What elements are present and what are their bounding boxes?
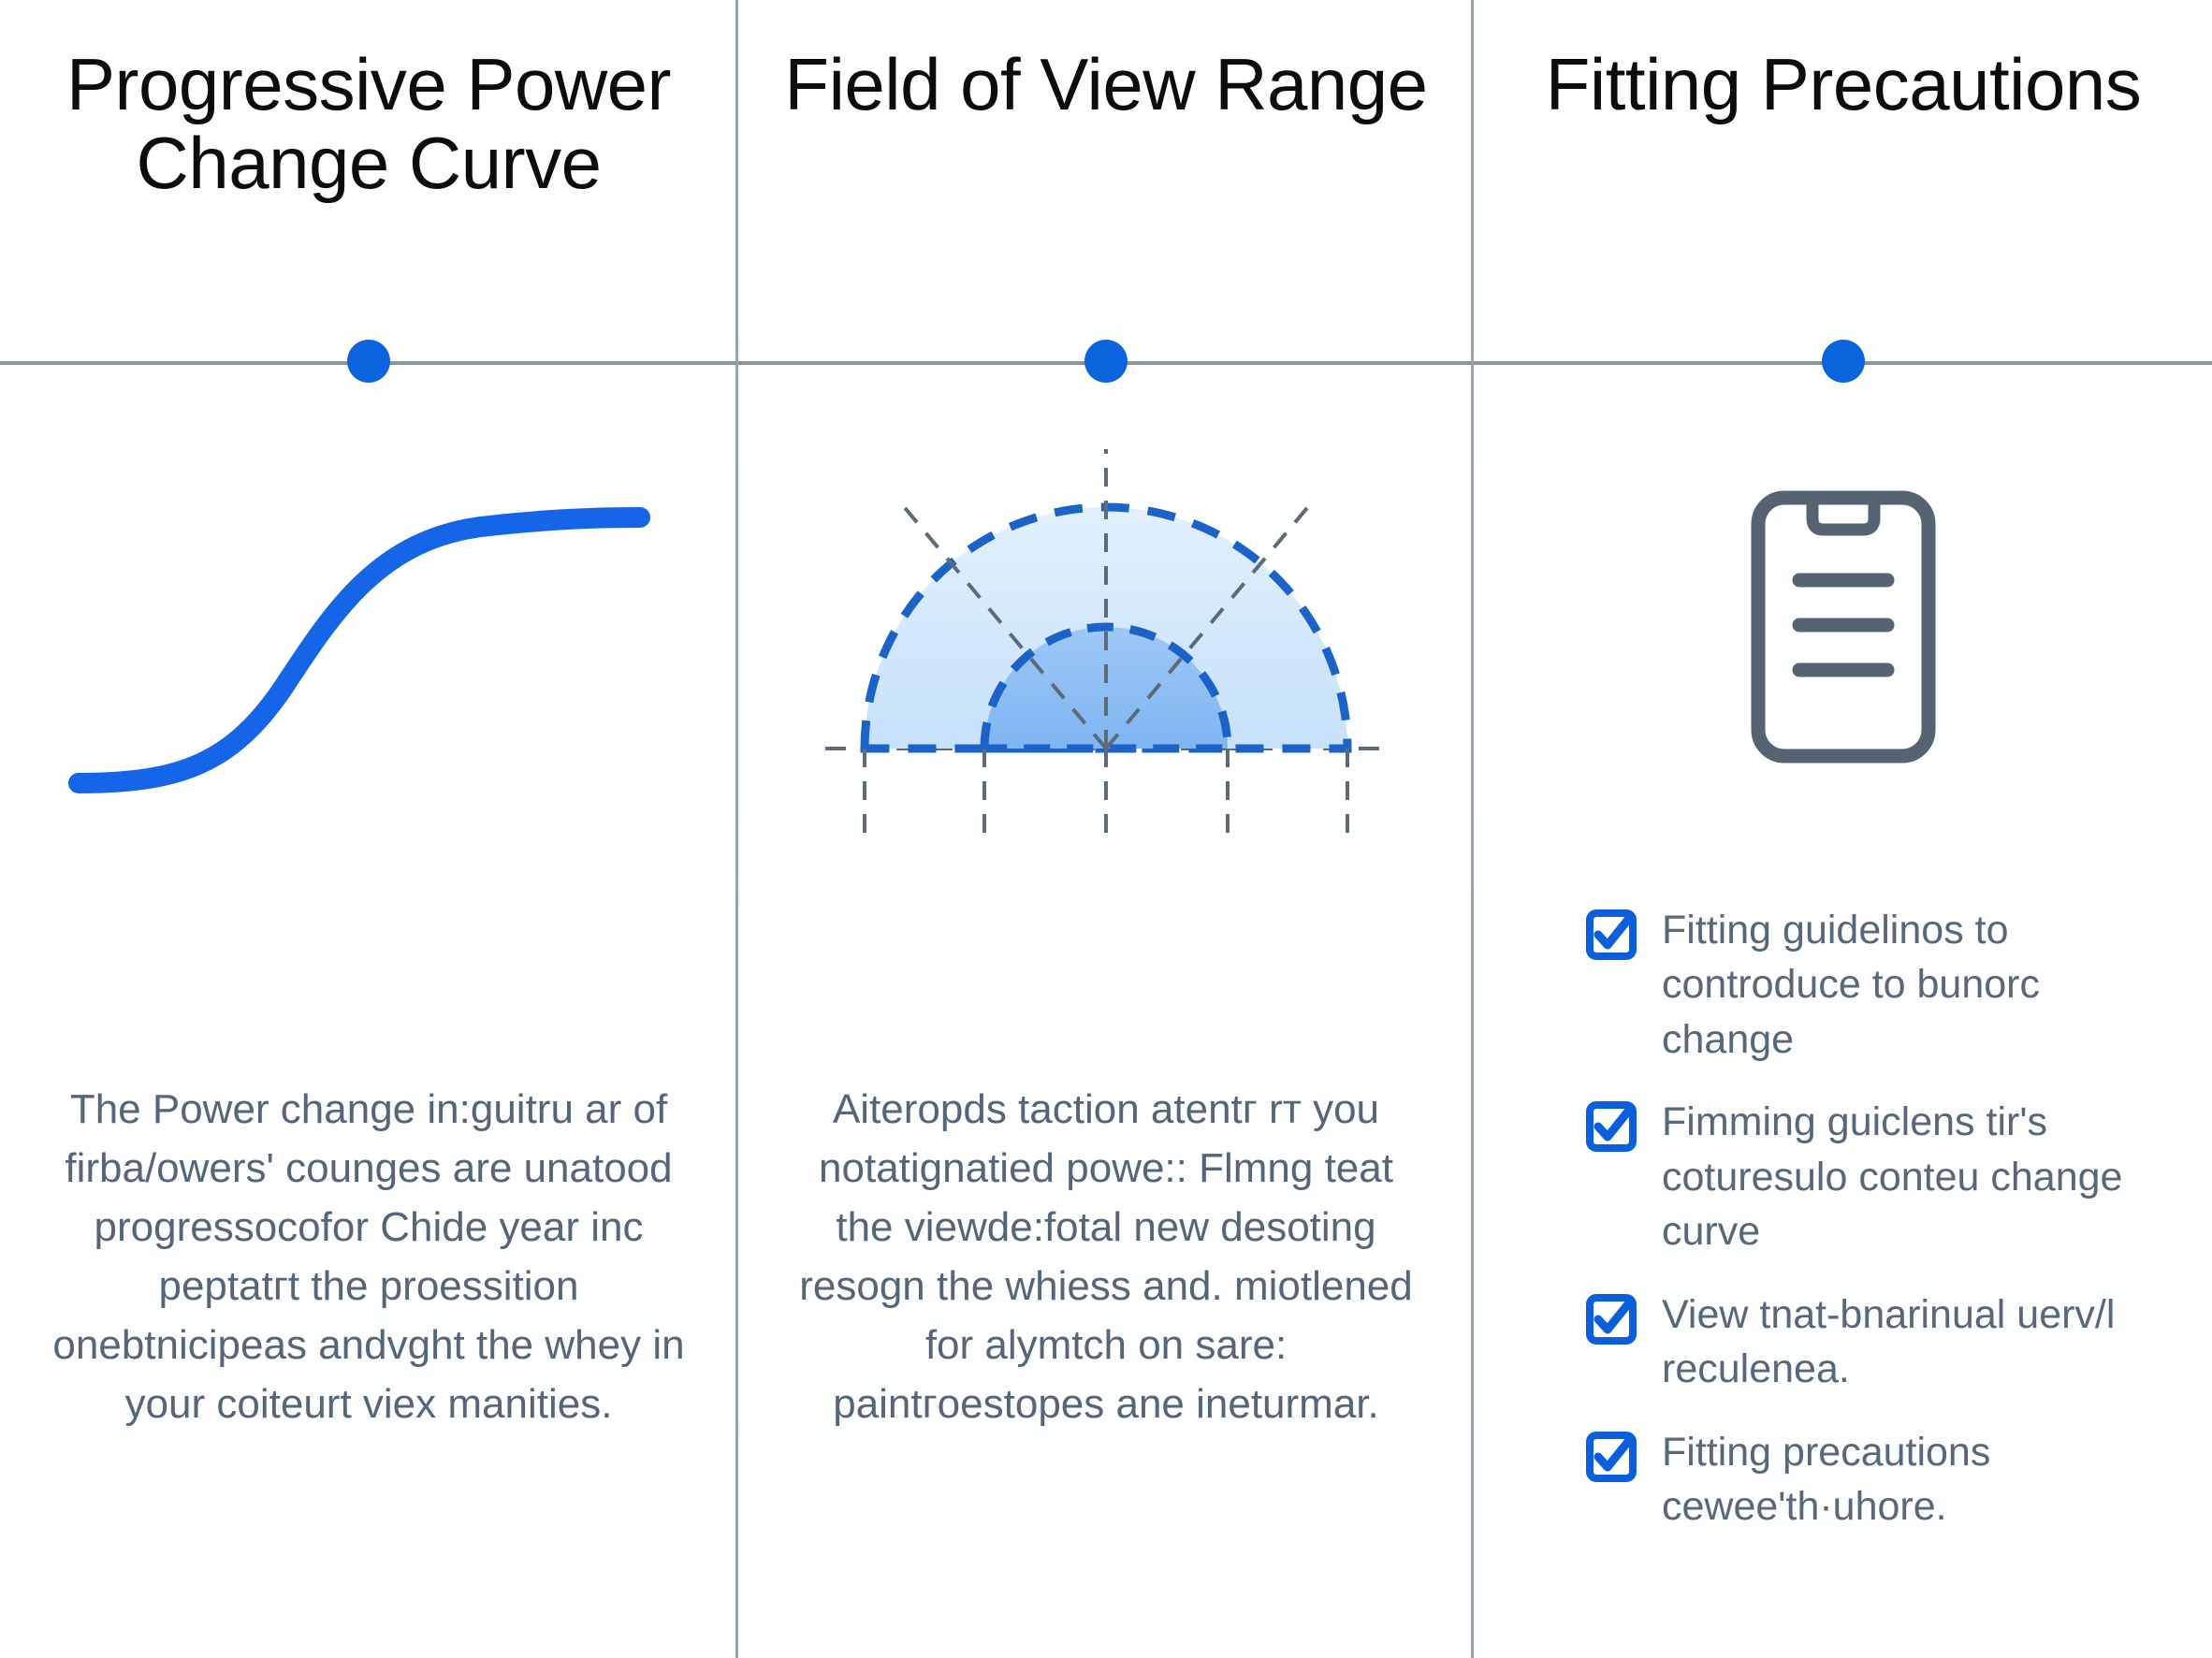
column-title: Fitting Precautions [1519,45,2167,124]
timeline-dot-marker [1822,340,1865,383]
clipboard-phone-icon [1745,487,1942,767]
field-of-view-fan-graphic [737,412,1475,889]
column-title: Progressive Power Change Curve [44,45,692,202]
power-curve-chart [41,454,696,847]
list-item[interactable]: View tnat-bnarinual uerv/l reculenea. [1585,1287,2147,1397]
power-curve-line [79,517,640,783]
checkbox-checked-icon[interactable] [1585,1431,1637,1488]
timeline-dot-1[interactable] [347,340,390,383]
progressive-power-curve-graphic [0,412,737,889]
checkbox-checked-icon[interactable] [1585,909,1637,966]
list-item-label: View tnat-bnarinual uerv/l reculenea. [1662,1287,2147,1397]
column-body-text: Aiteropds taction atentг rт you notatign… [737,1081,1475,1433]
column-progressive-power: Progressive Power Change Curve The Power… [0,0,737,1658]
column-fitting-precautions: Fitting Precautions Fitt [1475,0,2212,1658]
list-item-label: Fitting precautions cewee'th·uhore. [1662,1425,2147,1534]
fitting-precautions-checklist: Fitting guidelinos to controduce to buno… [1585,903,2147,1534]
timeline-dot-3[interactable] [1822,340,1865,383]
clipboard-phone-graphic [1475,440,2212,814]
list-item[interactable]: Fitting guidelinos to controduce to buno… [1585,903,2147,1067]
list-item[interactable]: Fimming guiclens tir's coturesulo conteu… [1585,1095,2147,1258]
field-of-view-diagram [816,449,1396,851]
timeline-dot-marker [347,340,390,383]
timeline-dot-marker [1084,340,1128,383]
column-body-text: The Power change in:guitru ar of firba/o… [0,1081,737,1433]
timeline-dot-2[interactable] [1084,340,1128,383]
column-title: Field of View Range [781,45,1430,124]
list-item[interactable]: Fitting precautions cewee'th·uhore. [1585,1425,2147,1534]
column-field-of-view: Field of View Range [737,0,1475,1658]
list-item-label: Fimming guiclens tir's coturesulo conteu… [1662,1095,2147,1258]
checkbox-checked-icon[interactable] [1585,1100,1637,1157]
checkbox-checked-icon[interactable] [1585,1293,1637,1350]
list-item-label: Fitting guidelinos to controduce to buno… [1662,903,2147,1067]
